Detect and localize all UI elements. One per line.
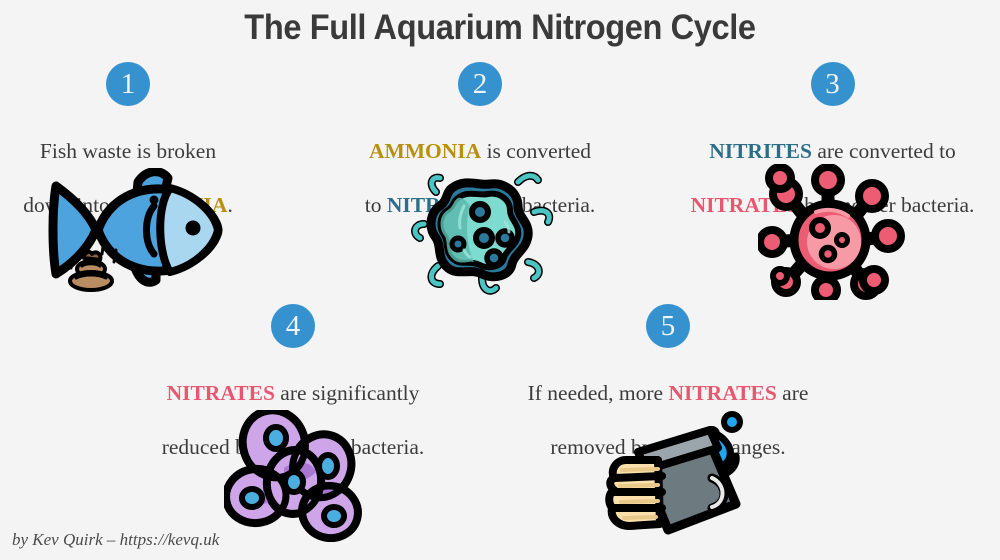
fish-and-waste-icon (38, 168, 228, 298)
step-5-line1-prefix: If needed, more (528, 381, 669, 405)
step-5-line1-suffix: are (777, 381, 809, 405)
step-4-line1-suffix: are significantly (275, 381, 419, 405)
bucket-water-change-icon (600, 408, 760, 548)
step-2-line1-suffix: is converted (481, 139, 591, 163)
keyword-nitrates: NITRATES (668, 381, 776, 405)
virus-germ-icon (758, 164, 906, 300)
step-2-number-badge: 2 (458, 62, 502, 106)
step-1-line1: Fish waste is broken (40, 139, 216, 163)
step-2-line2-prefix: to (365, 193, 387, 217)
credit-footer: by Kev Quirk – https://kevq.uk (12, 530, 219, 550)
infographic-canvas: The Full Aquarium Nitrogen Cycle 1 Fish … (0, 0, 1000, 560)
step-4-number-badge: 4 (271, 304, 315, 348)
keyword-nitrates: NITRATES (167, 381, 275, 405)
step-3-number-badge: 3 (811, 62, 855, 106)
keyword-nitrites: NITRITES (709, 139, 812, 163)
anaerobic-cells-icon (224, 410, 374, 542)
step-3-line1-suffix: are converted to (812, 139, 956, 163)
step-1-number-badge: 1 (106, 62, 150, 106)
keyword-ammonia: AMMONIA (369, 139, 481, 163)
step-1-line2-suffix: . (227, 193, 232, 217)
step-5-number-badge: 5 (646, 304, 690, 348)
page-title: The Full Aquarium Nitrogen Cycle (35, 8, 965, 48)
bacteria-microbe-icon (408, 166, 558, 298)
